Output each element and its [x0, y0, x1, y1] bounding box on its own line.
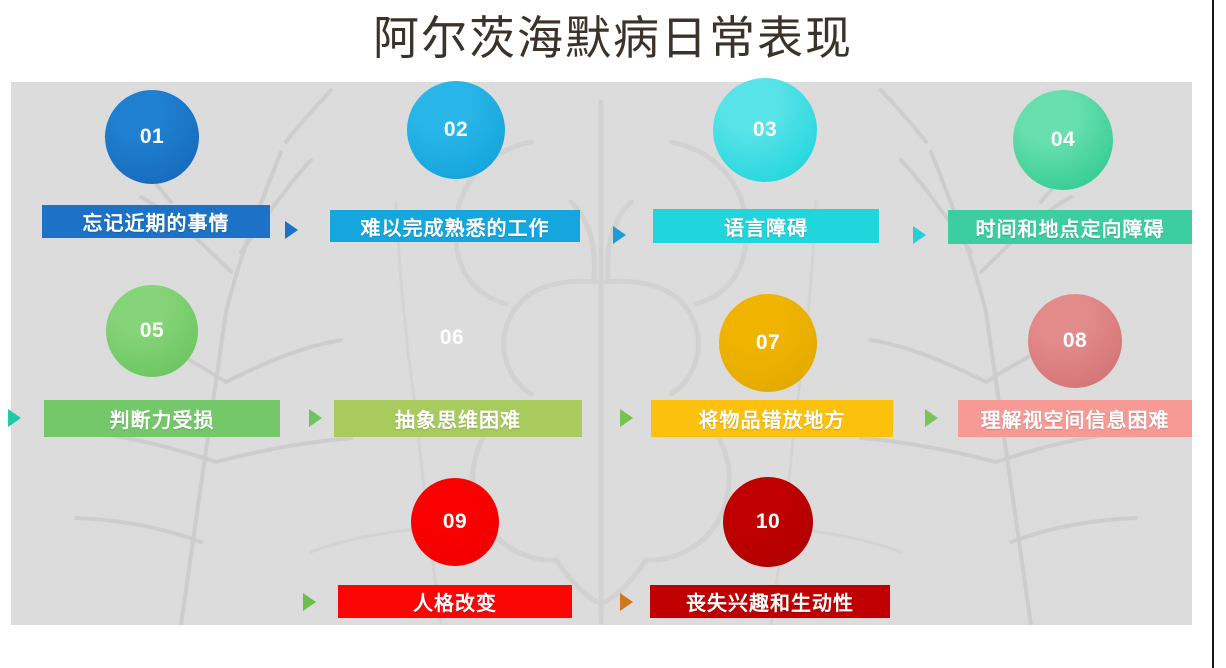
step-label-bar-03[interactable]: 语言障碍 — [653, 209, 879, 243]
infographic-slide: 阿尔茨海默病日常表现 — [0, 0, 1226, 668]
step-label-bar-09[interactable]: 人格改变 — [338, 585, 572, 618]
step-label-text: 语言障碍 — [724, 212, 808, 241]
step-label-text: 时间和地点定向障碍 — [976, 213, 1165, 242]
flow-arrow-icon-10 — [620, 593, 633, 611]
step-circle-07[interactable]: 07 — [719, 294, 817, 392]
step-number: 06 — [440, 326, 464, 350]
step-number: 08 — [1063, 329, 1087, 353]
step-label-text: 将物品错放地方 — [699, 404, 846, 433]
step-circle-01[interactable]: 01 — [105, 90, 199, 184]
step-circle-06[interactable]: 06 — [404, 290, 500, 386]
step-label-text: 人格改变 — [413, 587, 497, 616]
step-circle-02[interactable]: 02 — [407, 81, 505, 179]
flow-arrow-icon-07 — [620, 409, 633, 427]
step-label-text: 抽象思维困难 — [395, 404, 521, 433]
flow-arrow-icon-02 — [613, 226, 626, 244]
flow-arrow-icon-09 — [303, 593, 316, 611]
step-label-text: 忘记近期的事情 — [83, 207, 230, 236]
step-label-text: 难以完成熟悉的工作 — [361, 212, 550, 241]
step-label-bar-01[interactable]: 忘记近期的事情 — [42, 205, 270, 238]
step-circle-10[interactable]: 10 — [723, 477, 813, 567]
step-circle-09[interactable]: 09 — [411, 478, 499, 566]
flow-arrow-icon-03 — [913, 226, 926, 244]
step-number: 03 — [753, 118, 777, 142]
step-number: 05 — [140, 319, 164, 343]
step-label-bar-06[interactable]: 抽象思维困难 — [334, 400, 582, 437]
step-number: 09 — [443, 510, 467, 534]
step-number: 02 — [444, 118, 468, 142]
step-label-bar-02[interactable]: 难以完成熟悉的工作 — [330, 210, 580, 242]
page-title: 阿尔茨海默病日常表现 — [0, 6, 1226, 72]
step-label-bar-10[interactable]: 丧失兴趣和生动性 — [650, 585, 890, 618]
step-number: 10 — [756, 510, 780, 534]
step-circle-05[interactable]: 05 — [106, 285, 198, 377]
step-label-text: 判断力受损 — [110, 404, 215, 433]
step-label-bar-05[interactable]: 判断力受损 — [44, 400, 280, 437]
flow-arrow-icon-06 — [309, 409, 322, 427]
step-circle-04[interactable]: 04 — [1013, 90, 1113, 190]
step-number: 04 — [1051, 128, 1075, 152]
step-number: 01 — [140, 125, 164, 149]
step-label-text: 理解视空间信息困难 — [981, 404, 1170, 433]
step-circle-03[interactable]: 03 — [713, 78, 817, 182]
right-edge-rule — [1212, 0, 1214, 668]
flow-arrow-icon-01 — [285, 221, 298, 239]
step-circle-08[interactable]: 08 — [1028, 294, 1122, 388]
step-label-bar-08[interactable]: 理解视空间信息困难 — [958, 400, 1192, 437]
flow-arrow-icon-05 — [8, 409, 21, 427]
flow-arrow-icon-08 — [925, 409, 938, 427]
step-label-bar-04[interactable]: 时间和地点定向障碍 — [948, 210, 1192, 244]
step-label-bar-07[interactable]: 将物品错放地方 — [651, 400, 893, 437]
step-number: 07 — [756, 331, 780, 355]
step-label-text: 丧失兴趣和生动性 — [686, 587, 854, 616]
